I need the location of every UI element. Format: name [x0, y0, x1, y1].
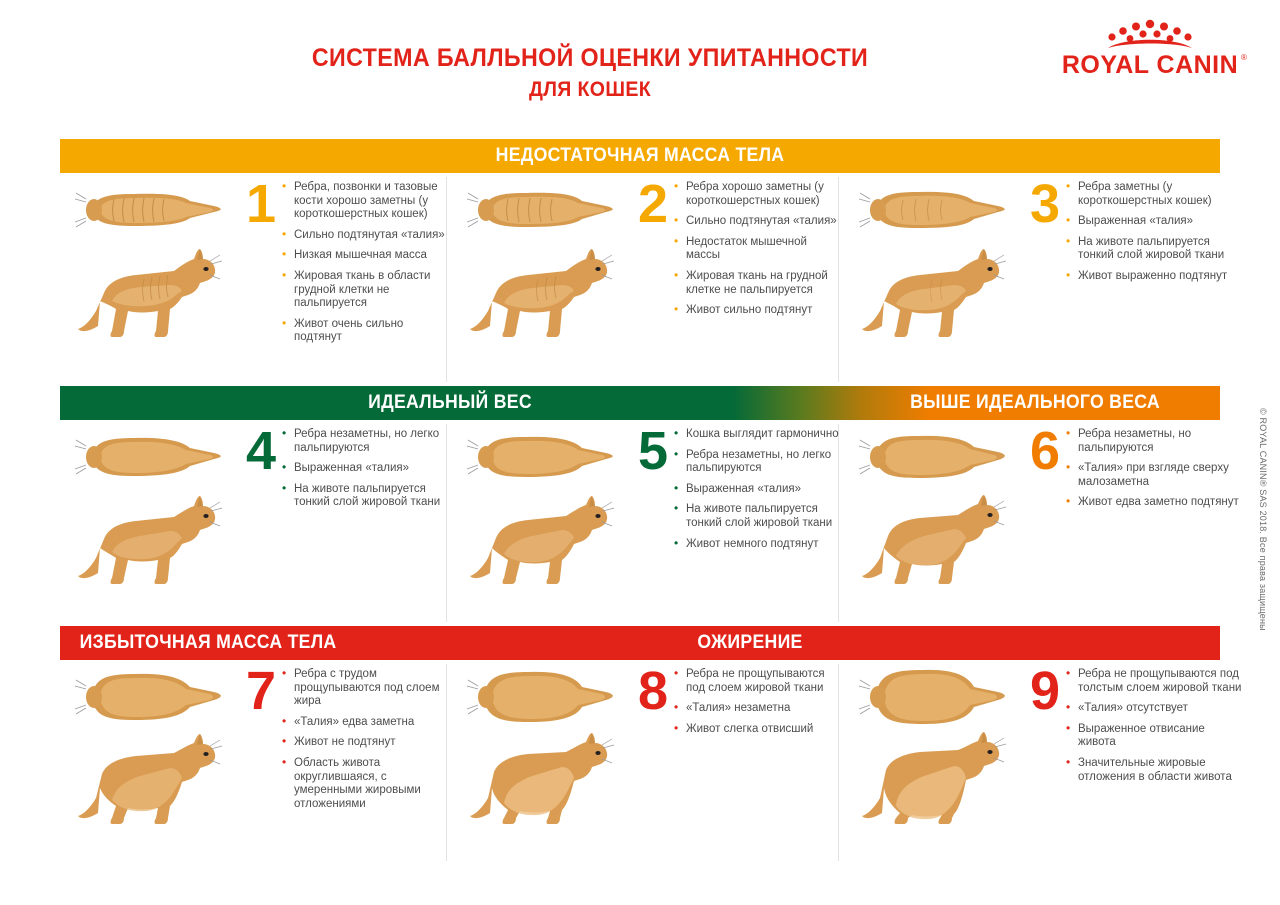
list-item: Выраженное отвисание живота — [1066, 723, 1244, 750]
cat-side-view-4 — [70, 478, 230, 598]
cat-illustration-4 — [60, 420, 230, 626]
band-obesity-label: ОЖИРЕНИЕ — [536, 632, 964, 654]
list-item: Выраженная «талия» — [674, 483, 844, 497]
band-ideal-label: ИДЕАЛЬНЫЙ ВЕС — [87, 392, 812, 414]
band-overweight-label: ИЗБЫТОЧНАЯ МАССА ТЕЛА — [80, 632, 337, 654]
bcs-card-7: 7 Ребра с трудом прощупываются под слоем… — [60, 660, 446, 865]
list-item: «Талия» при взгляде сверху малозаметна — [1066, 462, 1244, 489]
list-item: Выраженная «талия» — [1066, 215, 1244, 229]
logo-registered-mark: ® — [1241, 53, 1247, 62]
cat-illustration-3 — [844, 173, 1014, 386]
bcs-bullets-6: Ребра незаметны, но пальпируются «Талия»… — [1066, 428, 1244, 517]
list-item: На животе пальпируется тонкий слой жиров… — [1066, 236, 1244, 263]
infographic-page: СИСТЕМА БАЛЛЬНОЙ ОЦЕНКИ УПИТАННОСТИ ДЛЯ … — [0, 0, 1280, 905]
row-underweight: 1 Ребра, позвонки и тазовые кости хорошо… — [60, 173, 1220, 386]
bcs-number-5: 5 — [620, 424, 668, 478]
bcs-number-3: 3 — [1012, 177, 1060, 231]
cat-illustration-7 — [60, 660, 230, 865]
bcs-card-3: 3 Ребра заметны (у короткошерстных кошек… — [844, 173, 1220, 386]
list-item: Низкая мышечная масса — [282, 249, 452, 263]
cat-side-view-8 — [462, 718, 622, 838]
list-item: Живот выраженно подтянут — [1066, 270, 1244, 284]
list-item: «Талия» незаметна — [674, 702, 844, 716]
bcs-bullets-9: Ребра не прощупываются под толстым слоем… — [1066, 668, 1244, 791]
cat-side-view-3 — [854, 231, 1014, 351]
page-title: СИСТЕМА БАЛЛЬНОЙ ОЦЕНКИ УПИТАННОСТИ ДЛЯ … — [160, 44, 1020, 102]
bcs-number-6: 6 — [1012, 424, 1060, 478]
list-item: Ребра с трудом прощупываются под слоем ж… — [282, 668, 452, 709]
cat-side-view-1 — [70, 231, 230, 351]
cat-side-view-7 — [70, 718, 230, 838]
bcs-number-2: 2 — [620, 177, 668, 231]
bcs-bullets-5: Кошка выглядит гармонично Ребра незаметн… — [674, 428, 844, 558]
list-item: Ребра не прощупываются под слоем жировой… — [674, 668, 844, 695]
list-item: Ребра незаметны, но легко пальпируются — [674, 449, 844, 476]
title-subtitle: ДЛЯ КОШЕК — [190, 78, 990, 102]
page-header: СИСТЕМА БАЛЛЬНОЙ ОЦЕНКИ УПИТАННОСТИ ДЛЯ … — [0, 0, 1280, 130]
logo-wordmark: ROYAL CANIN — [1062, 51, 1238, 79]
row-overweight: 7 Ребра с трудом прощупываются под слоем… — [60, 660, 1220, 865]
list-item: «Талия» едва заметна — [282, 716, 452, 730]
list-item: Ребра незаметны, но пальпируются — [1066, 428, 1244, 455]
list-item: Живот едва заметно подтянут — [1066, 496, 1244, 510]
list-item: Жировая ткань в области грудной клетки н… — [282, 270, 452, 311]
bcs-card-9: 9 Ребра не прощупываются под толстым сло… — [844, 660, 1220, 865]
list-item: Живот сильно подтянут — [674, 304, 844, 318]
cat-side-view-9 — [854, 718, 1014, 838]
list-item: Живот очень сильно подтянут — [282, 318, 452, 345]
band-underweight-label: НЕДОСТАТОЧНАЯ МАССА ТЕЛА — [101, 145, 1180, 167]
list-item: Кошка выглядит гармонично — [674, 428, 844, 442]
cat-side-view-6 — [854, 478, 1014, 598]
list-item: Живот немного подтянут — [674, 538, 844, 552]
bcs-bullets-3: Ребра заметны (у короткошерстных кошек) … — [1066, 181, 1244, 291]
list-item: Недостаток мышечной массы — [674, 236, 844, 263]
bcs-card-6: 6 Ребра незаметны, но пальпируются «Тали… — [844, 420, 1220, 626]
crown-icon — [1108, 20, 1192, 48]
list-item: Жировая ткань на грудной клетке не пальп… — [674, 270, 844, 297]
cat-illustration-1 — [60, 173, 230, 386]
bcs-card-8: 8 Ребра не прощупываются под слоем жиров… — [452, 660, 838, 865]
bcs-number-1: 1 — [228, 177, 276, 231]
list-item: На животе пальпируется тонкий слой жиров… — [282, 483, 452, 510]
bcs-card-2: 2 Ребра хорошо заметны (у короткошерстны… — [452, 173, 838, 386]
bcs-card-1: 1 Ребра, позвонки и тазовые кости хорошо… — [60, 173, 446, 386]
bcs-bullets-4: Ребра незаметны, но легко пальпируются В… — [282, 428, 452, 517]
band-above-ideal-label: ВЫШЕ ИДЕАЛЬНОГО ВЕСА — [863, 392, 1207, 414]
list-item: Ребра заметны (у короткошерстных кошек) — [1066, 181, 1244, 208]
cat-illustration-9 — [844, 660, 1014, 865]
band-overweight: ИЗБЫТОЧНАЯ МАССА ТЕЛА ОЖИРЕНИЕ — [60, 626, 1220, 660]
list-item: Значительные жировые отложения в области… — [1066, 757, 1244, 784]
list-item: Живот слегка отвисший — [674, 723, 844, 737]
bcs-bullets-7: Ребра с трудом прощупываются под слоем ж… — [282, 668, 452, 818]
bcs-number-8: 8 — [620, 664, 668, 718]
cat-side-view-5 — [462, 478, 622, 598]
bcs-number-4: 4 — [228, 424, 276, 478]
bcs-bullets-2: Ребра хорошо заметны (у короткошерстных … — [674, 181, 844, 325]
list-item: Ребра не прощупываются под толстым слоем… — [1066, 668, 1244, 695]
cat-illustration-5 — [452, 420, 622, 626]
list-item: Ребра хорошо заметны (у короткошерстных … — [674, 181, 844, 208]
band-underweight: НЕДОСТАТОЧНАЯ МАССА ТЕЛА — [60, 139, 1220, 173]
row-ideal: 4 Ребра незаметны, но легко пальпируются… — [60, 420, 1220, 626]
bcs-number-7: 7 — [228, 664, 276, 718]
title-main: СИСТЕМА БАЛЛЬНОЙ ОЦЕНКИ УПИТАННОСТИ — [190, 44, 990, 73]
copyright-notice: © ROYAL CANIN® SAS 2018. Все права защищ… — [1258, 408, 1268, 628]
bcs-card-5: 5 Кошка выглядит гармонично Ребра незаме… — [452, 420, 838, 626]
cat-side-view-2 — [462, 231, 622, 351]
list-item: Сильно подтянутая «талия» — [282, 229, 452, 243]
list-item: Живот не подтянут — [282, 736, 452, 750]
cat-illustration-2 — [452, 173, 622, 386]
list-item: На животе пальпируется тонкий слой жиров… — [674, 503, 844, 530]
royal-canin-logo: ROYAL CANIN ® — [1050, 18, 1250, 82]
bcs-number-9: 9 — [1012, 664, 1060, 718]
bcs-card-4: 4 Ребра незаметны, но легко пальпируются… — [60, 420, 446, 626]
band-ideal-weight: ИДЕАЛЬНЫЙ ВЕС ВЫШЕ ИДЕАЛЬНОГО ВЕСА — [60, 386, 1220, 420]
list-item: Область живота округлившаяся, с умеренны… — [282, 757, 452, 811]
cat-illustration-6 — [844, 420, 1014, 626]
list-item: «Талия» отсутствует — [1066, 702, 1244, 716]
list-item: Ребра незаметны, но легко пальпируются — [282, 428, 452, 455]
list-item: Выраженная «талия» — [282, 462, 452, 476]
bcs-bullets-1: Ребра, позвонки и тазовые кости хорошо з… — [282, 181, 452, 352]
bcs-bullets-8: Ребра не прощупываются под слоем жировой… — [674, 668, 844, 743]
list-item: Сильно подтянутая «талия» — [674, 215, 844, 229]
list-item: Ребра, позвонки и тазовые кости хорошо з… — [282, 181, 452, 222]
cat-illustration-8 — [452, 660, 622, 865]
